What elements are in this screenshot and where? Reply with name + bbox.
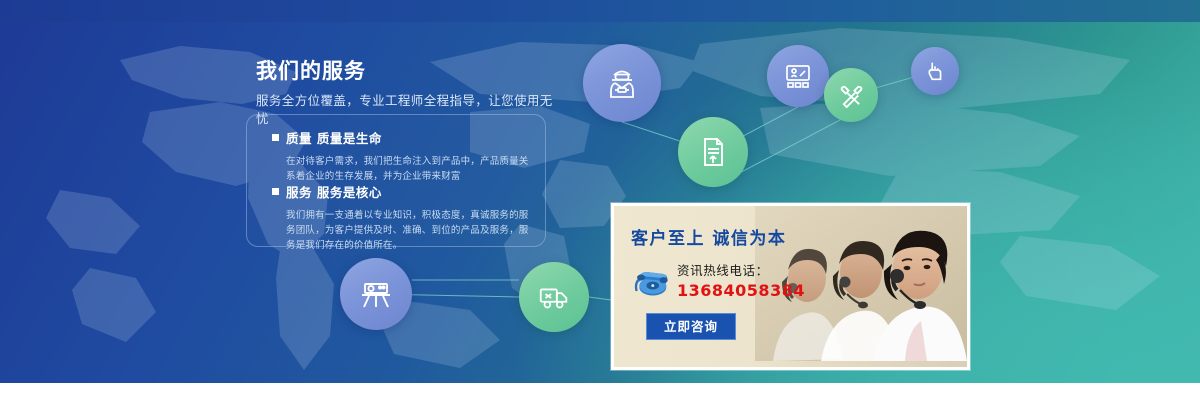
survey-tripod-icon[interactable]: [340, 258, 412, 330]
engineer-icon[interactable]: [583, 44, 661, 122]
square-bullet-icon: [272, 134, 279, 141]
page-title: 我们的服务: [256, 58, 556, 84]
hotline-label: 资讯热线电话：: [677, 262, 805, 280]
hotline-row: 资讯热线电话： 13684058384: [631, 262, 821, 302]
delivery-truck-icon[interactable]: [519, 262, 589, 332]
consult-now-button[interactable]: 立即咨询: [646, 313, 736, 340]
square-bullet-icon: [272, 188, 279, 195]
document-upload-icon[interactable]: [678, 117, 748, 187]
feature-title: 质量 质量是生命: [286, 128, 382, 147]
hero-gradient-background: 我们的服务 服务全方位覆盖，专业工程师全程指导，让您使用无忧 质量 质量是生命 …: [0, 0, 1200, 383]
feature-body: 在对待客户需求，我们把生命注入到产品中，产品质量关系着企业的生存发展，并为企业带…: [272, 154, 534, 184]
feature-body: 我们拥有一支通着以专业知识，积极态度，真诚服务的服务团队，为客户提供及时、准确、…: [272, 208, 534, 253]
top-chevron-notch: [566, 0, 634, 14]
telephone-icon: [631, 264, 671, 300]
feature-item-quality: 质量 质量是生命 在对待客户需求，我们把生命注入到产品中，产品质量关系着企业的生…: [272, 128, 534, 184]
feature-title: 服务 服务是核心: [286, 182, 382, 201]
hotline-number: 13684058384: [677, 280, 805, 302]
training-board-icon[interactable]: [767, 45, 829, 107]
feature-item-service: 服务 服务是核心 我们拥有一支通着以专业知识，积极态度，真诚服务的服务团队，为客…: [272, 182, 534, 253]
promo-banner: 客户至上 诚信为本 资讯热线电话：: [611, 203, 970, 370]
tools-hammer-wrench-icon[interactable]: [824, 68, 878, 122]
service-section: 我们的服务 服务全方位覆盖，专业工程师全程指导，让您使用无忧 质量 质量是生命 …: [0, 0, 1200, 400]
hand-click-icon[interactable]: [911, 47, 959, 95]
promo-text-block: 客户至上 诚信为本 资讯热线电话：: [631, 228, 821, 340]
promo-headline: 客户至上 诚信为本: [631, 228, 821, 250]
